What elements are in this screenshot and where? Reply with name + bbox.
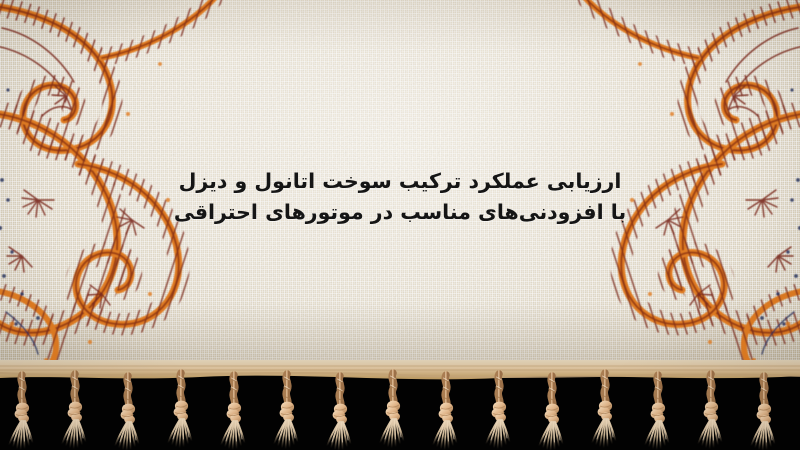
title-line-2: با افزودنی‌های مناسب در موتورهای احتراقی xyxy=(0,197,800,228)
title-line-1: ارزیابی عملکرد ترکیب سوخت اتانول و دیزل xyxy=(0,166,800,197)
slide-title: ارزیابی عملکرد ترکیب سوخت اتانول و دیزل … xyxy=(0,166,800,227)
lower-black-band xyxy=(0,374,800,450)
slide-canvas: ارزیابی عملکرد ترکیب سوخت اتانول و دیزل … xyxy=(0,0,800,450)
